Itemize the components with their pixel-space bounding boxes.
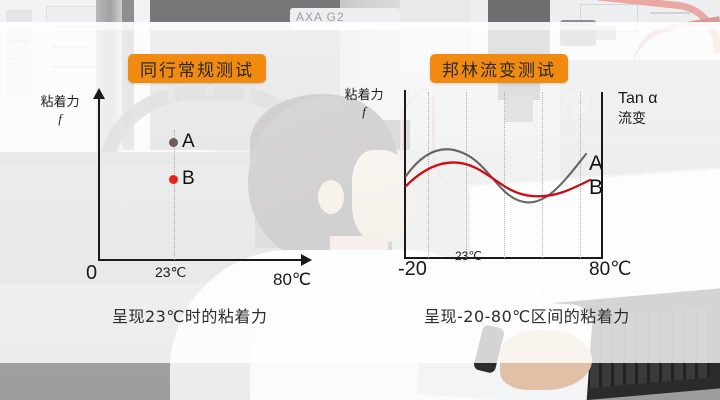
right-chart-curves [404,120,604,220]
right-series-b-label: B [589,176,603,200]
left-data-point-a [169,138,178,147]
right-curve-b [406,162,590,196]
left-data-point-a-label: A [182,131,195,153]
left-x-tick-80c: 80℃ [273,270,311,290]
left-data-point-b-label: B [182,168,195,190]
left-y-axis-label: 粘着力 f [28,95,92,128]
right-x-tick-23c: 23℃ [455,249,482,263]
left-panel-caption: 呈现23℃时的粘着力 [112,303,267,327]
right-secondary-axis-label: Tan α 流变 [618,88,708,128]
right-y-axis-label: 粘着力 f [332,88,396,121]
right-x-tick-80c: 80℃ [589,258,631,281]
svg-text:TA: TA [571,103,583,115]
badge-right-title: 邦林流变测试 [430,54,568,83]
left-x-tick-0: 0 [86,262,97,285]
content-layer: 同行常规测试 粘着力 f A B 0 23℃ 80℃ 呈现23℃时的粘着力 邦林… [0,0,720,400]
left-data-point-b [169,175,178,184]
right-x-tick-minus20: -20 [398,258,427,281]
right-secondary-axis-line1: Tan α [618,88,708,110]
left-y-axis-label-text: 粘着力 [40,95,79,110]
badge-left-title: 同行常规测试 [128,54,266,83]
left-chart-x-axis-arrow-icon [301,254,312,266]
right-y-axis-label-text: 粘着力 [344,88,383,103]
right-panel-caption: 呈现-20-80℃区间的粘着力 [424,303,630,327]
ta-instruments-logo-icon: TA [560,88,594,122]
left-chart-y-axis [98,96,100,261]
right-y-axis-symbol: f [332,104,396,120]
left-y-axis-symbol: f [28,111,92,127]
left-x-tick-23c: 23℃ [155,264,186,281]
left-chart-x-axis [98,259,303,261]
right-secondary-axis-line2: 流变 [618,110,708,129]
screenshot-canvas: AXA G2 [0,0,720,400]
right-series-a-label: A [589,152,603,176]
left-chart-y-axis-arrow-icon [93,88,105,99]
left-chart-gridline-23c [174,130,175,260]
